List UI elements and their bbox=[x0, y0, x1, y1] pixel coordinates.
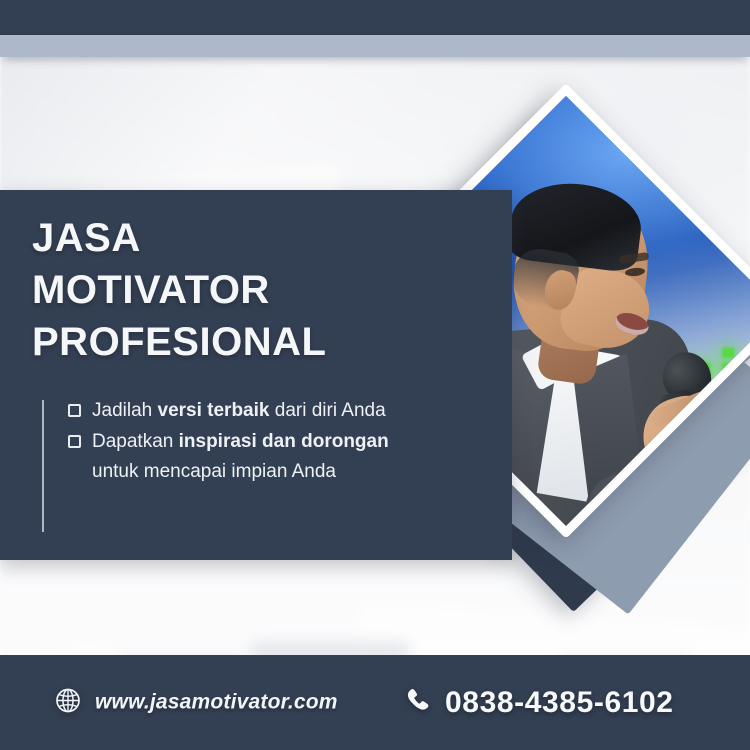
promotional-poster: b agia bbox=[0, 0, 750, 750]
headline-line-2: MOTIVATOR bbox=[32, 264, 392, 316]
footer-contact-row: www.jasamotivator.com 0838-4385-6102 bbox=[0, 655, 750, 750]
globe-icon bbox=[55, 687, 81, 718]
checkbox-square-icon bbox=[68, 435, 81, 448]
phone-contact[interactable]: 0838-4385-6102 bbox=[405, 686, 674, 720]
footer-bar: www.jasamotivator.com 0838-4385-6102 bbox=[0, 655, 750, 750]
list-item: Jadilah versi terbaik dari diri Anda bbox=[68, 396, 392, 426]
phone-handset-icon bbox=[405, 686, 433, 719]
website-url: www.jasamotivator.com bbox=[95, 691, 338, 715]
headline-line-1: JASA bbox=[32, 212, 392, 264]
benefit-text-2: Dapatkan inspirasi dan dorongan untuk me… bbox=[92, 431, 389, 482]
page-title: JASA MOTIVATOR PROFESIONAL bbox=[32, 212, 392, 368]
benefit-text-1: Jadilah versi terbaik dari diri Anda bbox=[92, 400, 386, 421]
accent-divider-line bbox=[42, 400, 44, 532]
phone-number: 0838-4385-6102 bbox=[445, 686, 674, 720]
headline-line-3: PROFESIONAL bbox=[32, 316, 392, 368]
checkbox-square-icon bbox=[68, 404, 81, 417]
list-item: Dapatkan inspirasi dan dorongan untuk me… bbox=[68, 427, 392, 487]
top-light-band bbox=[0, 35, 750, 57]
top-dark-band bbox=[0, 0, 750, 35]
benefits-list: Jadilah versi terbaik dari diri Anda Dap… bbox=[68, 396, 392, 487]
benefits-section: Jadilah versi terbaik dari diri Anda Dap… bbox=[42, 396, 392, 488]
website-contact[interactable]: www.jasamotivator.com bbox=[55, 687, 338, 718]
